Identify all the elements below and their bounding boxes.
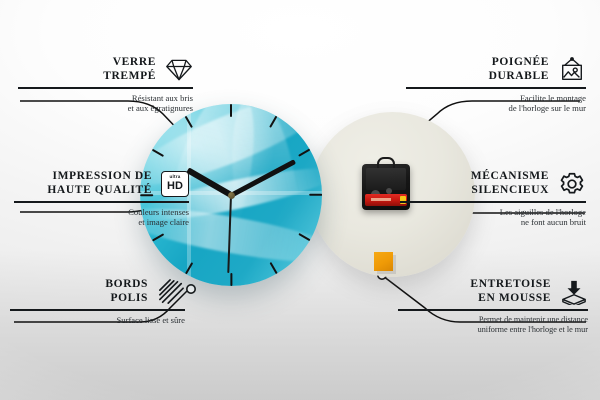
hands-center-cap [228, 192, 235, 199]
callout-bords-polis: BORDS POLIS Surface lisse et sûre [10, 278, 185, 325]
callout-divider [10, 309, 185, 311]
callout-divider [398, 309, 588, 311]
foam-spacer [374, 252, 393, 271]
callout-title: IMPRESSION DE HAUTE QUALITÉ [47, 170, 152, 197]
callout-subtitle: Les aiguilles de l'horloge ne font aucun… [400, 207, 586, 228]
callout-title: ENTRETOISE EN MOUSSE [398, 278, 551, 305]
connector-node-bords-polis [187, 285, 195, 293]
callout-title: BORDS POLIS [105, 278, 148, 305]
clock-tick [230, 104, 232, 195]
product-infographic: VERRE TREMPÉ Résistant aux bris et aux é… [0, 0, 600, 400]
picture-hanger-icon [558, 57, 586, 83]
callout-impression-haute-qualite: IMPRESSION DE HAUTE QUALITÉ ultra HD Cou… [14, 170, 189, 228]
callout-mecanisme-silencieux: MÉCANISME SILENCIEUX Les aiguilles de l'… [400, 170, 586, 228]
callout-divider [406, 87, 586, 89]
ultra-hd-icon-main-label: HD [167, 181, 183, 192]
callout-subtitle: Résistant aux bris et aux égratignures [18, 93, 193, 114]
callout-subtitle: Permet de maintenir une distance uniform… [398, 315, 588, 336]
callout-subtitle: Couleurs intenses et image claire [14, 207, 189, 228]
polished-edges-icon [157, 279, 185, 305]
callout-verre-trempe: VERRE TREMPÉ Résistant aux bris et aux é… [18, 56, 193, 114]
callout-divider [400, 201, 586, 203]
foam-spacer-icon [560, 279, 588, 305]
clock-tick [231, 194, 322, 196]
gear-icon [558, 171, 586, 197]
callout-poignee-durable: POIGNÉE DURABLE Facilite le montage de l… [406, 56, 586, 114]
ultra-hd-icon: ultra HD [161, 171, 189, 197]
callout-title: MÉCANISME SILENCIEUX [400, 170, 549, 197]
callout-title: POIGNÉE DURABLE [406, 56, 549, 83]
callout-divider [18, 87, 193, 89]
callout-entretoise-en-mousse: ENTRETOISE EN MOUSSE Permet de maintenir… [398, 278, 588, 336]
callout-subtitle: Facilite le montage de l'horloge sur le … [406, 93, 586, 114]
battery-stripe [371, 198, 391, 201]
callout-divider [14, 201, 189, 203]
callout-title: VERRE TREMPÉ [103, 56, 156, 83]
callout-subtitle: Surface lisse et sûre [10, 315, 185, 326]
diamond-icon [165, 57, 193, 83]
